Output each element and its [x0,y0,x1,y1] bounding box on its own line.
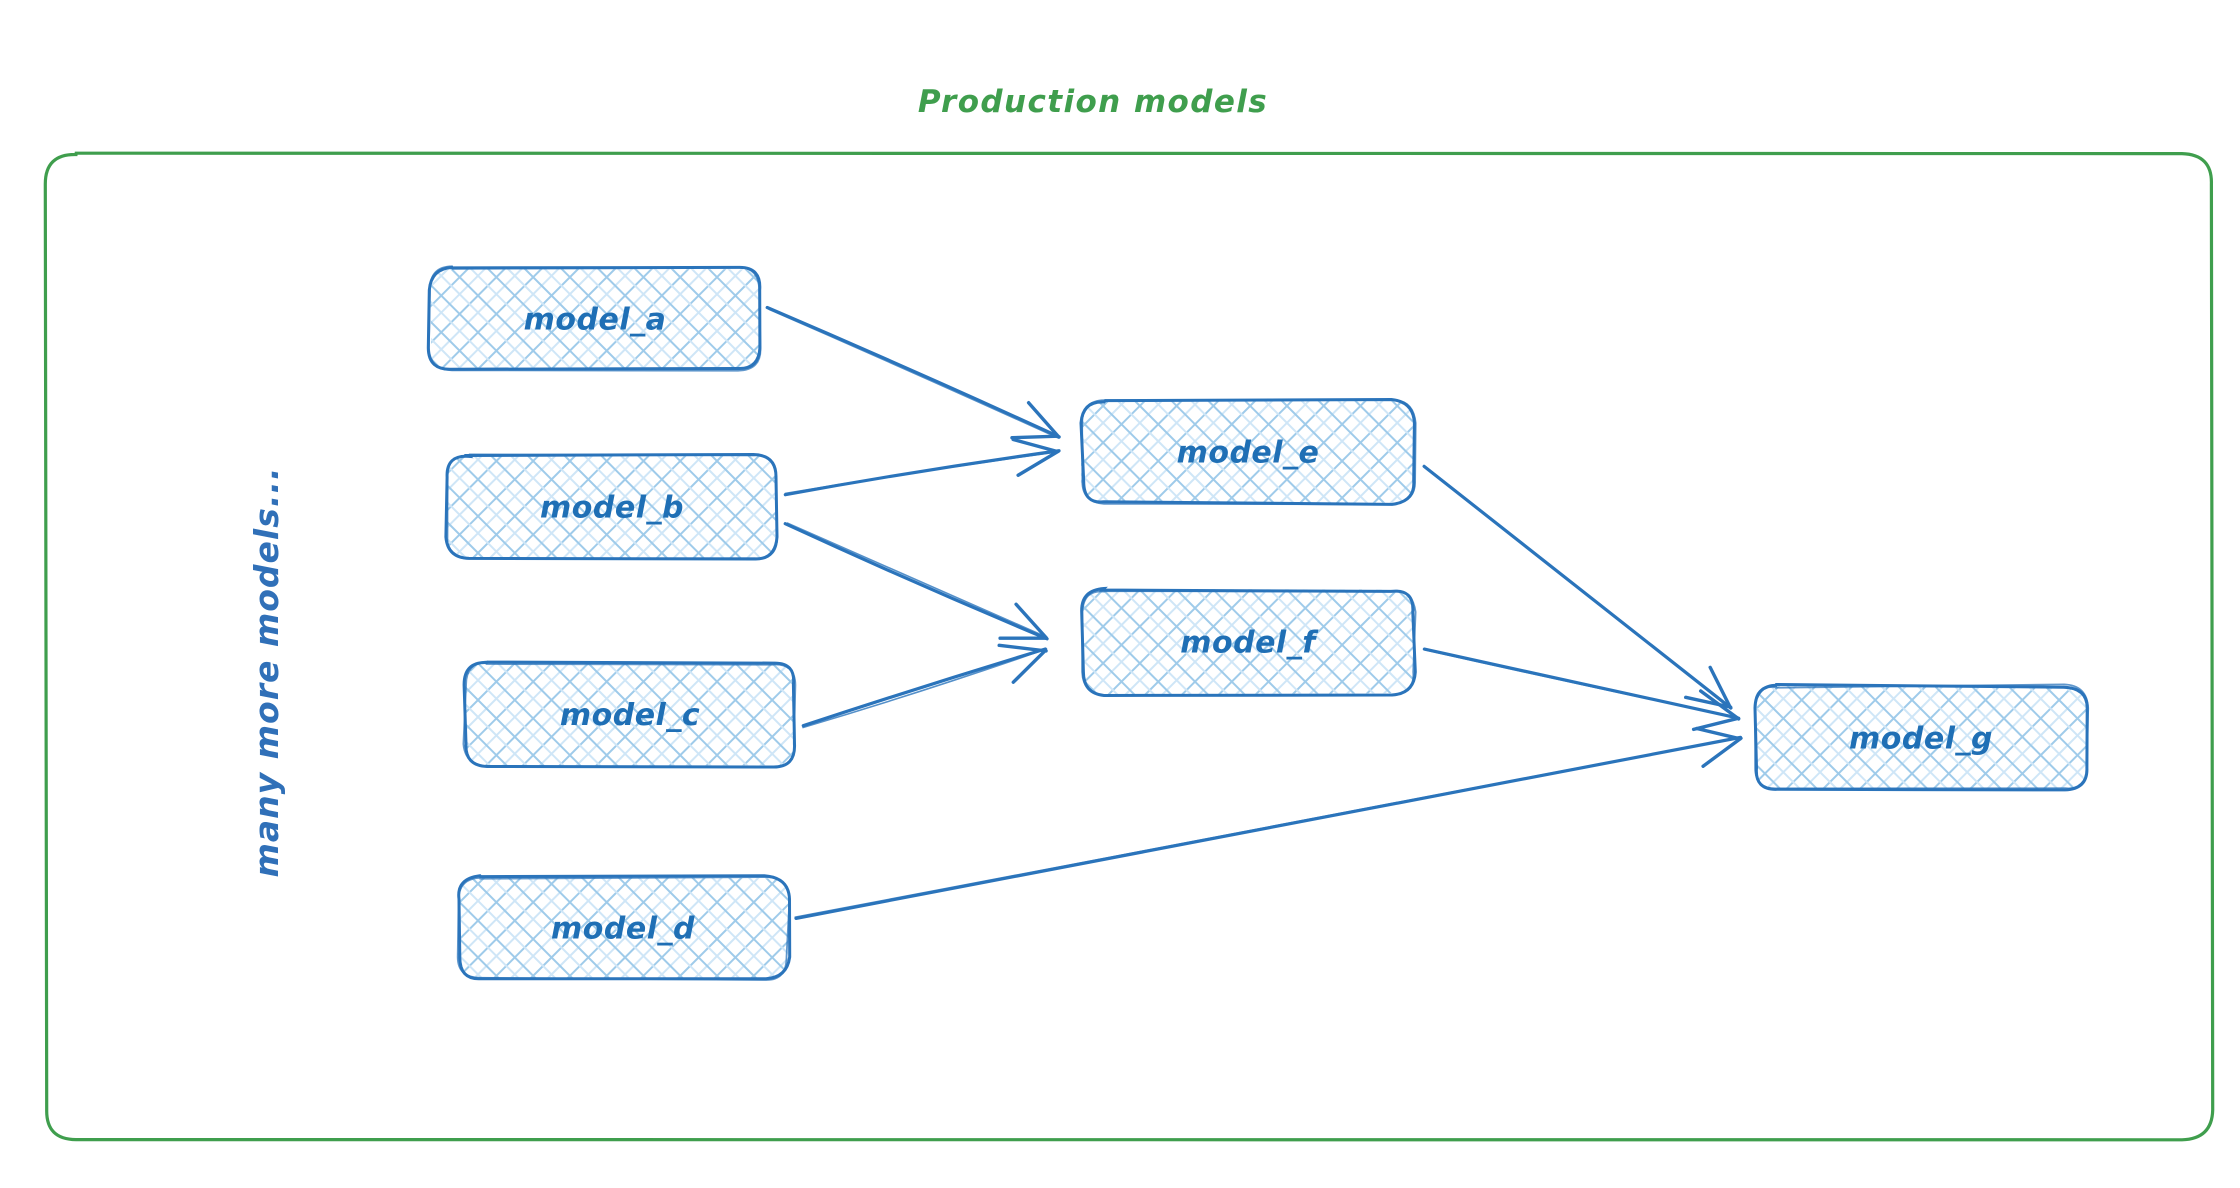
arrow-head-icon [1697,728,1740,738]
edge-line [769,309,1057,437]
edge-line [787,523,1046,637]
node-label: model_c [560,698,700,733]
edge-line [785,524,1047,639]
edge-model_b-to-model_f [785,523,1047,639]
edge-model_b-to-model_e [785,439,1059,494]
edge-line [803,649,1045,726]
node-model_g[interactable]: model_g [1755,684,2088,791]
node-label: model_f [1180,626,1319,661]
many-more-models-note: many more models... [247,467,286,878]
edge-model_d-to-model_g [795,728,1741,918]
node-model_e[interactable]: model_e [1081,400,1416,505]
group-title: Production models [918,84,1268,120]
node-model_a[interactable]: model_a [428,266,760,370]
edge-model_a-to-model_e [767,308,1059,438]
node-model_f[interactable]: model_f [1082,589,1416,696]
edge-line [1425,466,1730,707]
node-label: model_a [524,303,667,338]
edge-model_c-to-model_f [803,645,1046,727]
edge-model_e-to-model_g [1424,466,1731,708]
diagram-canvas: Production models many more models... mo… [0,0,2240,1188]
arrow-head-icon [1013,439,1057,451]
edge-model_f-to-model_g [1424,649,1738,729]
diagram-svg: Production models many more models... mo… [0,0,2240,1188]
node-label: model_d [551,912,695,947]
node-label: model_b [540,491,684,526]
node-layer: model_amodel_bmodel_cmodel_dmodel_emodel… [428,266,2088,980]
edge-line [803,649,1046,728]
node-label: model_e [1177,436,1320,471]
node-model_d[interactable]: model_d [457,876,789,980]
edge-line [795,737,1739,917]
node-label: model_g [1849,722,1993,757]
arrow-head-icon [999,645,1046,651]
node-model_c[interactable]: model_c [463,662,795,768]
arrow-head-icon [1012,436,1058,438]
node-model_b[interactable]: model_b [446,454,777,559]
